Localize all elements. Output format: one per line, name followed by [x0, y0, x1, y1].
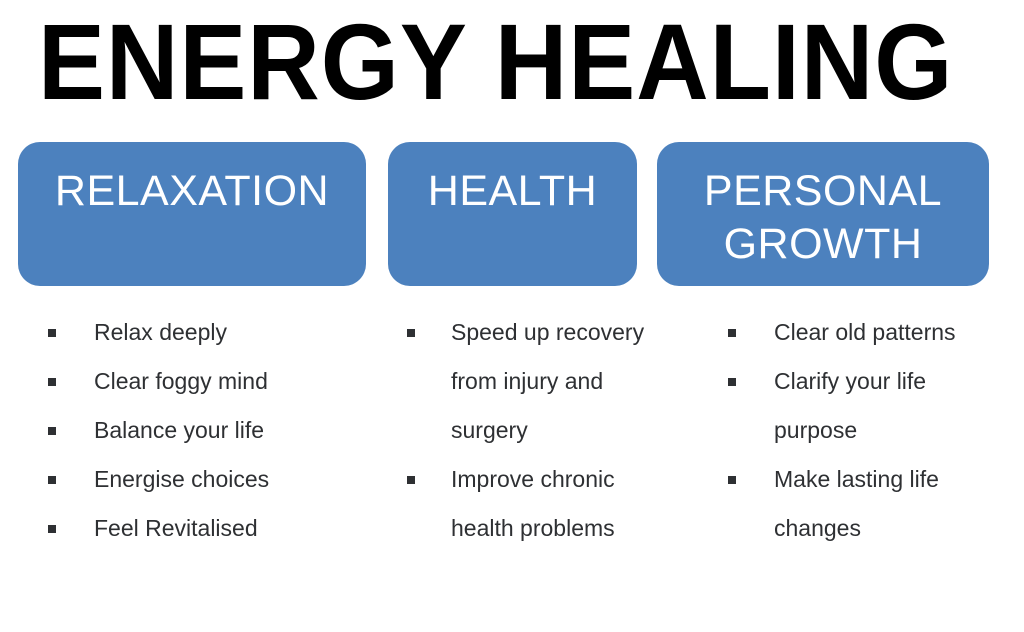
page-title: ENERGY HEALING — [38, 2, 931, 122]
energy-healing-slide: ENERGY HEALING RELAXATION HEALTH PERSONA… — [0, 0, 1024, 632]
bullet-list-health: Speed up recovery from injury and surger… — [400, 308, 645, 553]
list-item-label: Clear foggy mind — [94, 357, 362, 406]
list-item-label: Balance your life — [94, 406, 362, 455]
square-bullet-icon — [728, 476, 736, 484]
category-header-personal-growth-label: PERSONAL GROWTH — [704, 167, 942, 268]
benefits-column-personal-growth: Clear old patterns Clarify your life pur… — [721, 308, 989, 553]
square-bullet-icon — [728, 329, 736, 337]
list-item-label: Energise choices — [94, 455, 362, 504]
list-item: Clarify your life purpose — [721, 357, 989, 455]
category-header-health: HEALTH — [388, 142, 637, 286]
list-item: Relax deeply — [42, 308, 362, 357]
square-bullet-icon — [48, 525, 56, 533]
category-header-health-label: HEALTH — [428, 167, 597, 215]
list-item: Clear old patterns — [721, 308, 989, 357]
list-item: Energise choices — [42, 455, 362, 504]
category-header-personal-growth: PERSONAL GROWTH — [657, 142, 989, 286]
list-item: Speed up recovery from injury and surger… — [400, 308, 645, 455]
list-item-label: Clarify your life purpose — [774, 357, 989, 455]
list-item: Clear foggy mind — [42, 357, 362, 406]
square-bullet-icon — [48, 378, 56, 386]
list-item-label: Speed up recovery from injury and surger… — [451, 308, 645, 455]
square-bullet-icon — [407, 329, 415, 337]
square-bullet-icon — [48, 427, 56, 435]
square-bullet-icon — [48, 329, 56, 337]
list-item: Improve chronic health problems — [400, 455, 645, 553]
category-header-relaxation: RELAXATION — [18, 142, 366, 286]
list-item: Balance your life — [42, 406, 362, 455]
benefits-column-health: Speed up recovery from injury and surger… — [400, 308, 645, 553]
square-bullet-icon — [407, 476, 415, 484]
category-header-relaxation-label: RELAXATION — [55, 167, 329, 215]
list-item: Feel Revitalised — [42, 504, 362, 553]
list-item-label: Relax deeply — [94, 308, 362, 357]
square-bullet-icon — [728, 378, 736, 386]
benefits-column-relaxation: Relax deeply Clear foggy mind Balance yo… — [42, 308, 362, 553]
list-item-label: Clear old patterns — [774, 308, 989, 357]
square-bullet-icon — [48, 476, 56, 484]
list-item-label: Improve chronic health problems — [451, 455, 645, 553]
list-item-label: Feel Revitalised — [94, 504, 362, 553]
bullet-list-relaxation: Relax deeply Clear foggy mind Balance yo… — [42, 308, 362, 553]
list-item: Make lasting life changes — [721, 455, 989, 553]
bullet-list-personal-growth: Clear old patterns Clarify your life pur… — [721, 308, 989, 553]
list-item-label: Make lasting life changes — [774, 455, 989, 553]
